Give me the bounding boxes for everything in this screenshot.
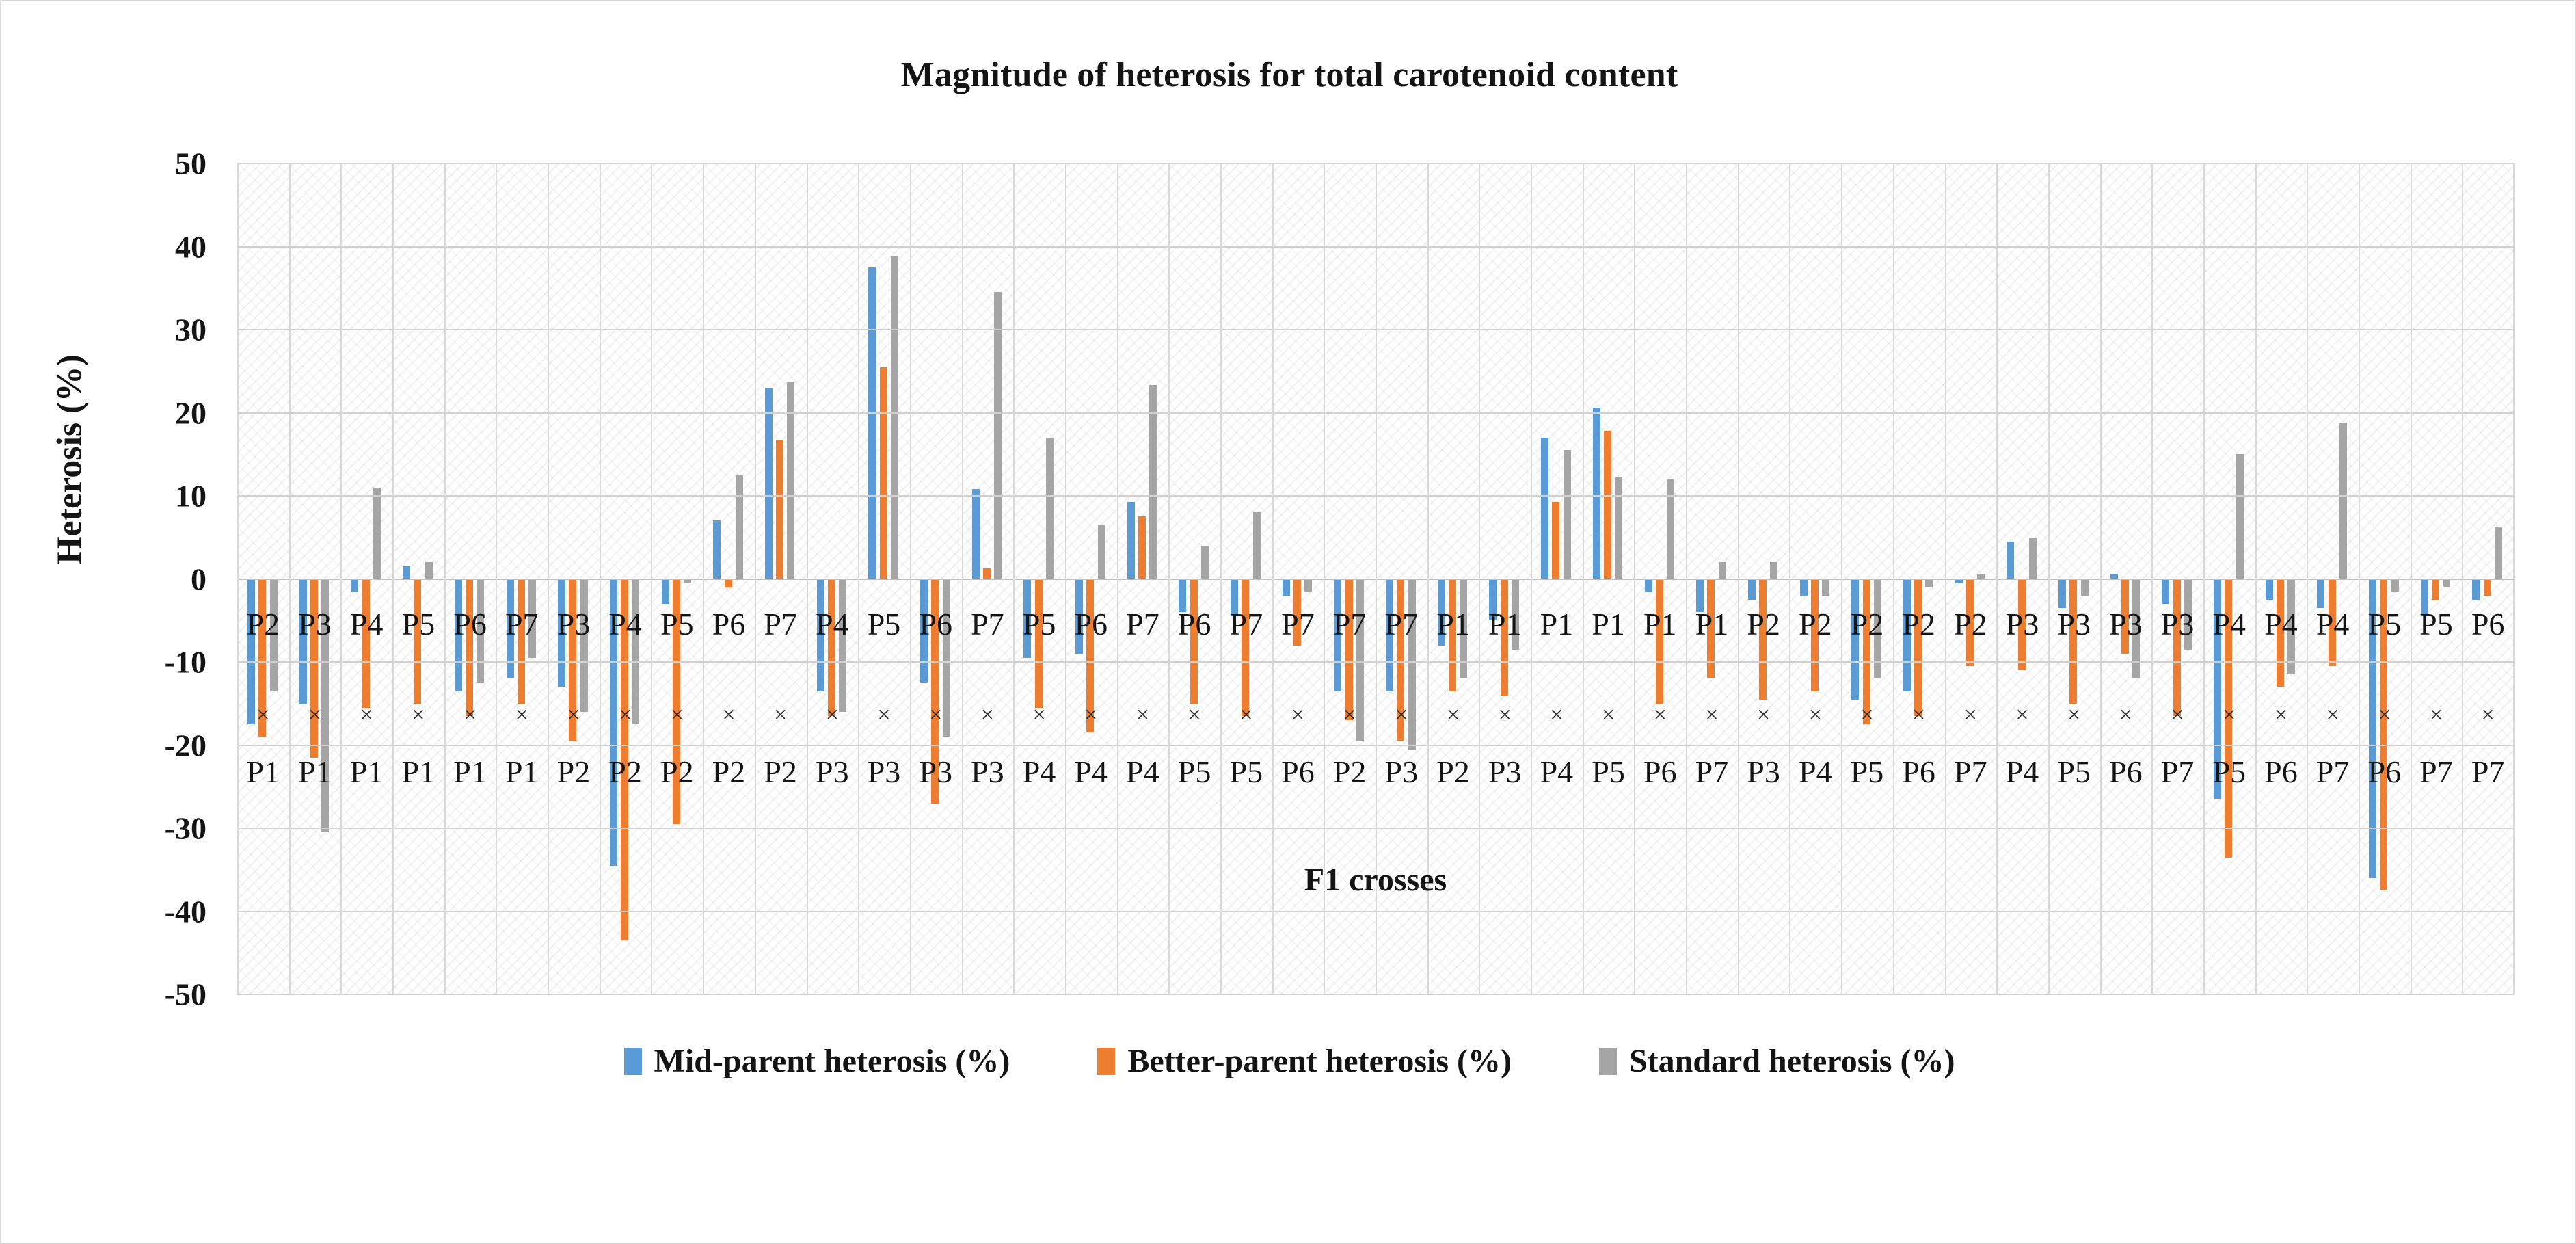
x-axis-parent1-label: P1 — [340, 756, 392, 788]
x-axis-category: P1×P3 — [1479, 163, 1531, 994]
cross-multiply-icon: × — [2411, 704, 2463, 727]
x-axis-parent2-label: P5 — [1013, 609, 1065, 640]
cross-multiply-icon: × — [962, 704, 1014, 727]
vertical-gridline — [2514, 163, 2515, 994]
x-axis-category: P6×P1 — [444, 163, 496, 994]
x-axis-parent2-label: P2 — [1789, 609, 1841, 640]
cross-multiply-icon: × — [1738, 704, 1790, 727]
x-axis-parent2-label: P3 — [2151, 609, 2203, 640]
cross-multiply-icon: × — [1220, 704, 1272, 727]
x-axis-category: P4×P6 — [2255, 163, 2307, 994]
x-axis-category: P1×P4 — [1531, 163, 1583, 994]
x-axis-parent2-label: P5 — [858, 609, 910, 640]
x-axis-category: P3×P4 — [1996, 163, 2048, 994]
x-axis-parent2-label: P3 — [2100, 609, 2152, 640]
x-axis-category: P5×P7 — [2411, 163, 2463, 994]
chart-legend: Mid-parent heterosis (%)Better-parent he… — [1, 1042, 2576, 1080]
x-axis-parent1-label: P1 — [289, 756, 341, 788]
x-axis-parent2-label: P5 — [651, 609, 703, 640]
x-axis-parent2-label: P1 — [1427, 609, 1479, 640]
x-axis-category: P4×P2 — [600, 163, 652, 994]
x-axis-parent2-label: P6 — [1065, 609, 1117, 640]
x-axis-parent1-label: P3 — [1738, 756, 1790, 788]
y-axis-tick-label: -40 — [80, 893, 206, 929]
x-axis-category: P2×P7 — [1945, 163, 1997, 994]
x-axis-category: P1×P7 — [1686, 163, 1738, 994]
cross-multiply-icon: × — [1841, 704, 1893, 727]
x-axis-category: P2×P5 — [1841, 163, 1893, 994]
x-axis-category: P3×P5 — [2048, 163, 2100, 994]
cross-multiply-icon: × — [1324, 704, 1376, 727]
cross-multiply-icon: × — [1531, 704, 1583, 727]
x-axis-parent1-label: P2 — [1324, 756, 1376, 788]
x-axis-parent1-label: P6 — [1893, 756, 1945, 788]
cross-multiply-icon: × — [2100, 704, 2152, 727]
cross-multiply-icon: × — [807, 704, 859, 727]
x-axis-parent1-label: P7 — [1945, 756, 1997, 788]
x-axis-parent1-label: P4 — [1065, 756, 1117, 788]
x-axis-category: P7×P3 — [1376, 163, 1427, 994]
y-axis-tick-label: -10 — [80, 644, 206, 680]
x-axis-parent2-label: P1 — [1634, 609, 1686, 640]
cross-multiply-icon: × — [1634, 704, 1686, 727]
x-axis-parent1-label: P7 — [1686, 756, 1738, 788]
x-axis-category: P6×P5 — [1168, 163, 1220, 994]
cross-multiply-icon: × — [858, 704, 910, 727]
legend-label: Better-parent heterosis (%) — [1127, 1042, 1512, 1080]
cross-multiply-icon: × — [1686, 704, 1738, 727]
x-axis-category: P7×P5 — [1220, 163, 1272, 994]
x-axis-parent1-label: P2 — [1427, 756, 1479, 788]
x-axis-parent1-label: P3 — [807, 756, 859, 788]
x-axis-parent1-label: P3 — [962, 756, 1014, 788]
chart-title: Magnitude of heterosis for total caroten… — [1, 55, 2576, 95]
x-axis-category: P7×P2 — [1324, 163, 1376, 994]
x-axis-parent2-label: P4 — [2203, 609, 2255, 640]
x-axis-category: P7×P3 — [962, 163, 1014, 994]
x-axis-category: P3×P2 — [548, 163, 600, 994]
y-axis-tick-label: 20 — [80, 395, 206, 431]
cross-multiply-icon: × — [1945, 704, 1997, 727]
x-axis-parent2-label: P1 — [1686, 609, 1738, 640]
x-axis-category: P7×P2 — [755, 163, 807, 994]
x-axis-parent2-label: P6 — [703, 609, 755, 640]
x-axis-parent2-label: P4 — [2307, 609, 2359, 640]
cross-multiply-icon: × — [703, 704, 755, 727]
x-axis-category: P7×P4 — [1117, 163, 1169, 994]
x-axis-parent2-label: P6 — [910, 609, 962, 640]
x-axis-parent2-label: P6 — [2462, 609, 2514, 640]
x-axis-parent1-label: P5 — [1220, 756, 1272, 788]
cross-multiply-icon: × — [392, 704, 444, 727]
x-axis-parent1-label: P6 — [2100, 756, 2152, 788]
cross-multiply-icon: × — [496, 704, 548, 727]
cross-multiply-icon: × — [1272, 704, 1324, 727]
x-axis-parent2-label: P7 — [755, 609, 807, 640]
x-axis-parent2-label: P1 — [1583, 609, 1635, 640]
cross-multiply-icon: × — [2255, 704, 2307, 727]
x-axis-parent2-label: P2 — [1893, 609, 1945, 640]
x-axis-category: P4×P3 — [807, 163, 859, 994]
cross-multiply-icon: × — [2359, 704, 2411, 727]
x-axis-parent2-label: P3 — [548, 609, 600, 640]
x-axis-category: P3×P7 — [2151, 163, 2203, 994]
x-axis-category: P4×P7 — [2307, 163, 2359, 994]
cross-multiply-icon: × — [1013, 704, 1065, 727]
cross-multiply-icon: × — [2462, 704, 2514, 727]
x-axis-parent1-label: P3 — [910, 756, 962, 788]
cross-multiply-icon: × — [340, 704, 392, 727]
cross-multiply-icon: × — [1996, 704, 2048, 727]
cross-multiply-icon: × — [1065, 704, 1117, 727]
y-axis-tick-label: -50 — [80, 977, 206, 1013]
x-axis-parent2-label: P1 — [1531, 609, 1583, 640]
x-axis-category: P6×P2 — [703, 163, 755, 994]
x-axis-category: P2×P1 — [237, 163, 289, 994]
x-axis-category: P2×P4 — [1789, 163, 1841, 994]
cross-multiply-icon: × — [755, 704, 807, 727]
x-axis-parent1-label: P2 — [703, 756, 755, 788]
x-axis-parent2-label: P4 — [600, 609, 652, 640]
x-axis-parent2-label: P4 — [340, 609, 392, 640]
y-axis-tick-label: 40 — [80, 228, 206, 265]
y-axis-tick-label: 10 — [80, 478, 206, 514]
x-axis-parent2-label: P2 — [1738, 609, 1790, 640]
legend-color-swatch — [624, 1048, 642, 1075]
x-axis-parent1-label: P4 — [1117, 756, 1169, 788]
cross-multiply-icon: × — [651, 704, 703, 727]
x-axis-category: P1×P6 — [1634, 163, 1686, 994]
x-axis-parent1-label: P2 — [600, 756, 652, 788]
x-axis-category: P4×P5 — [2203, 163, 2255, 994]
x-axis-category: P5×P1 — [392, 163, 444, 994]
legend-item[interactable]: Standard heterosis (%) — [1599, 1042, 1955, 1080]
x-axis-parent1-label: P3 — [1376, 756, 1427, 788]
x-axis-category: P5×P4 — [1013, 163, 1065, 994]
cross-multiply-icon: × — [289, 704, 341, 727]
x-axis-parent1-label: P2 — [651, 756, 703, 788]
x-axis-parent2-label: P5 — [392, 609, 444, 640]
x-axis-category: P7×P1 — [496, 163, 548, 994]
legend-label: Mid-parent heterosis (%) — [654, 1042, 1010, 1080]
cross-multiply-icon: × — [2203, 704, 2255, 727]
cross-multiply-icon: × — [2151, 704, 2203, 727]
x-axis-category: P7×P6 — [1272, 163, 1324, 994]
x-axis-parent1-label: P5 — [1168, 756, 1220, 788]
y-axis-tick-label: 0 — [80, 561, 206, 597]
cross-multiply-icon: × — [1168, 704, 1220, 727]
y-axis-tick-label: -30 — [80, 810, 206, 847]
x-axis-category: P3×P1 — [289, 163, 341, 994]
legend-item[interactable]: Mid-parent heterosis (%) — [624, 1042, 1010, 1080]
x-axis-parent1-label: P6 — [1272, 756, 1324, 788]
x-axis-parent1-label: P6 — [2255, 756, 2307, 788]
x-axis-parent2-label: P6 — [444, 609, 496, 640]
x-axis-parent1-label: P4 — [1013, 756, 1065, 788]
cross-multiply-icon: × — [910, 704, 962, 727]
x-axis-parent2-label: P7 — [1324, 609, 1376, 640]
x-axis-parent1-label: P4 — [1531, 756, 1583, 788]
x-axis-parent1-label: P7 — [2307, 756, 2359, 788]
x-axis-parent1-label: P1 — [237, 756, 289, 788]
y-axis-tick-label: -20 — [80, 727, 206, 763]
x-axis-parent2-label: P5 — [2359, 609, 2411, 640]
x-axis-parent2-label: P7 — [496, 609, 548, 640]
x-axis-parent2-label: P3 — [1996, 609, 2048, 640]
x-axis-parent1-label: P6 — [1634, 756, 1686, 788]
x-axis-category: P5×P3 — [858, 163, 910, 994]
x-axis-parent2-label: P3 — [2048, 609, 2100, 640]
cross-multiply-icon: × — [444, 704, 496, 727]
legend-color-swatch — [1599, 1048, 1617, 1075]
x-axis-parent1-label: P1 — [444, 756, 496, 788]
x-axis-parent1-label: P1 — [392, 756, 444, 788]
x-axis-parent2-label: P7 — [1272, 609, 1324, 640]
cross-multiply-icon: × — [1583, 704, 1635, 727]
cross-multiply-icon: × — [1427, 704, 1479, 727]
x-axis-parent1-label: P3 — [1479, 756, 1531, 788]
cross-multiply-icon: × — [237, 704, 289, 727]
cross-multiply-icon: × — [548, 704, 600, 727]
x-axis-parent1-label: P7 — [2462, 756, 2514, 788]
x-axis-parent1-label: P4 — [1789, 756, 1841, 788]
x-axis-parent1-label: P2 — [548, 756, 600, 788]
x-axis-parent1-label: P6 — [2359, 756, 2411, 788]
x-axis-parent1-label: P3 — [858, 756, 910, 788]
cross-multiply-icon: × — [1376, 704, 1427, 727]
x-axis-parent1-label: P5 — [2203, 756, 2255, 788]
y-axis-tick-label: 50 — [80, 146, 206, 182]
cross-multiply-icon: × — [1117, 704, 1169, 727]
x-axis-parent2-label: P6 — [1168, 609, 1220, 640]
figure-container: Magnitude of heterosis for total caroten… — [0, 0, 2576, 1244]
x-axis-category: P1×P5 — [1583, 163, 1635, 994]
x-axis-category: P5×P2 — [651, 163, 703, 994]
x-axis-category: P6×P4 — [1065, 163, 1117, 994]
x-axis-parent2-label: P7 — [1376, 609, 1427, 640]
x-axis-category: P5×P6 — [2359, 163, 2411, 994]
x-axis-parent1-label: P1 — [496, 756, 548, 788]
x-axis-parent1-label: P5 — [2048, 756, 2100, 788]
x-axis-parent2-label: P4 — [807, 609, 859, 640]
x-axis-category: P6×P7 — [2462, 163, 2514, 994]
x-axis-parent1-label: P5 — [1841, 756, 1893, 788]
cross-multiply-icon: × — [1479, 704, 1531, 727]
x-axis-parent1-label: P7 — [2151, 756, 2203, 788]
x-axis-category: P2×P3 — [1738, 163, 1790, 994]
x-axis-parent2-label: P7 — [1117, 609, 1169, 640]
x-axis-category: P1×P2 — [1427, 163, 1479, 994]
x-axis-parent2-label: P2 — [237, 609, 289, 640]
x-axis-parent2-label: P1 — [1479, 609, 1531, 640]
x-axis-parent1-label: P4 — [1996, 756, 2048, 788]
x-axis-category: P2×P6 — [1893, 163, 1945, 994]
x-axis-parent2-label: P5 — [2411, 609, 2463, 640]
x-axis-parent2-label: P4 — [2255, 609, 2307, 640]
cross-multiply-icon: × — [2307, 704, 2359, 727]
x-axis-parent1-label: P5 — [1583, 756, 1635, 788]
legend-label: Standard heterosis (%) — [1629, 1042, 1955, 1080]
cross-multiply-icon: × — [1789, 704, 1841, 727]
x-axis-category: P4×P1 — [340, 163, 392, 994]
x-axis-parent2-label: P7 — [962, 609, 1014, 640]
x-axis-parent2-label: P7 — [1220, 609, 1272, 640]
legend-color-swatch — [1097, 1048, 1115, 1075]
x-axis-parent1-label: P2 — [755, 756, 807, 788]
x-axis-parent1-label: P7 — [2411, 756, 2463, 788]
legend-item[interactable]: Better-parent heterosis (%) — [1097, 1042, 1512, 1080]
x-axis-parent2-label: P2 — [1945, 609, 1997, 640]
y-axis-tick-label: 30 — [80, 312, 206, 348]
x-axis-parent2-label: P3 — [289, 609, 341, 640]
cross-multiply-icon: × — [600, 704, 652, 727]
x-axis-parent2-label: P2 — [1841, 609, 1893, 640]
cross-multiply-icon: × — [2048, 704, 2100, 727]
x-axis-labels: F1 crosses P2×P1P3×P1P4×P1P5×P1P6×P1P7×P… — [237, 163, 2514, 994]
x-axis-category: P6×P3 — [910, 163, 962, 994]
cross-multiply-icon: × — [1893, 704, 1945, 727]
x-axis-category: P3×P6 — [2100, 163, 2152, 994]
